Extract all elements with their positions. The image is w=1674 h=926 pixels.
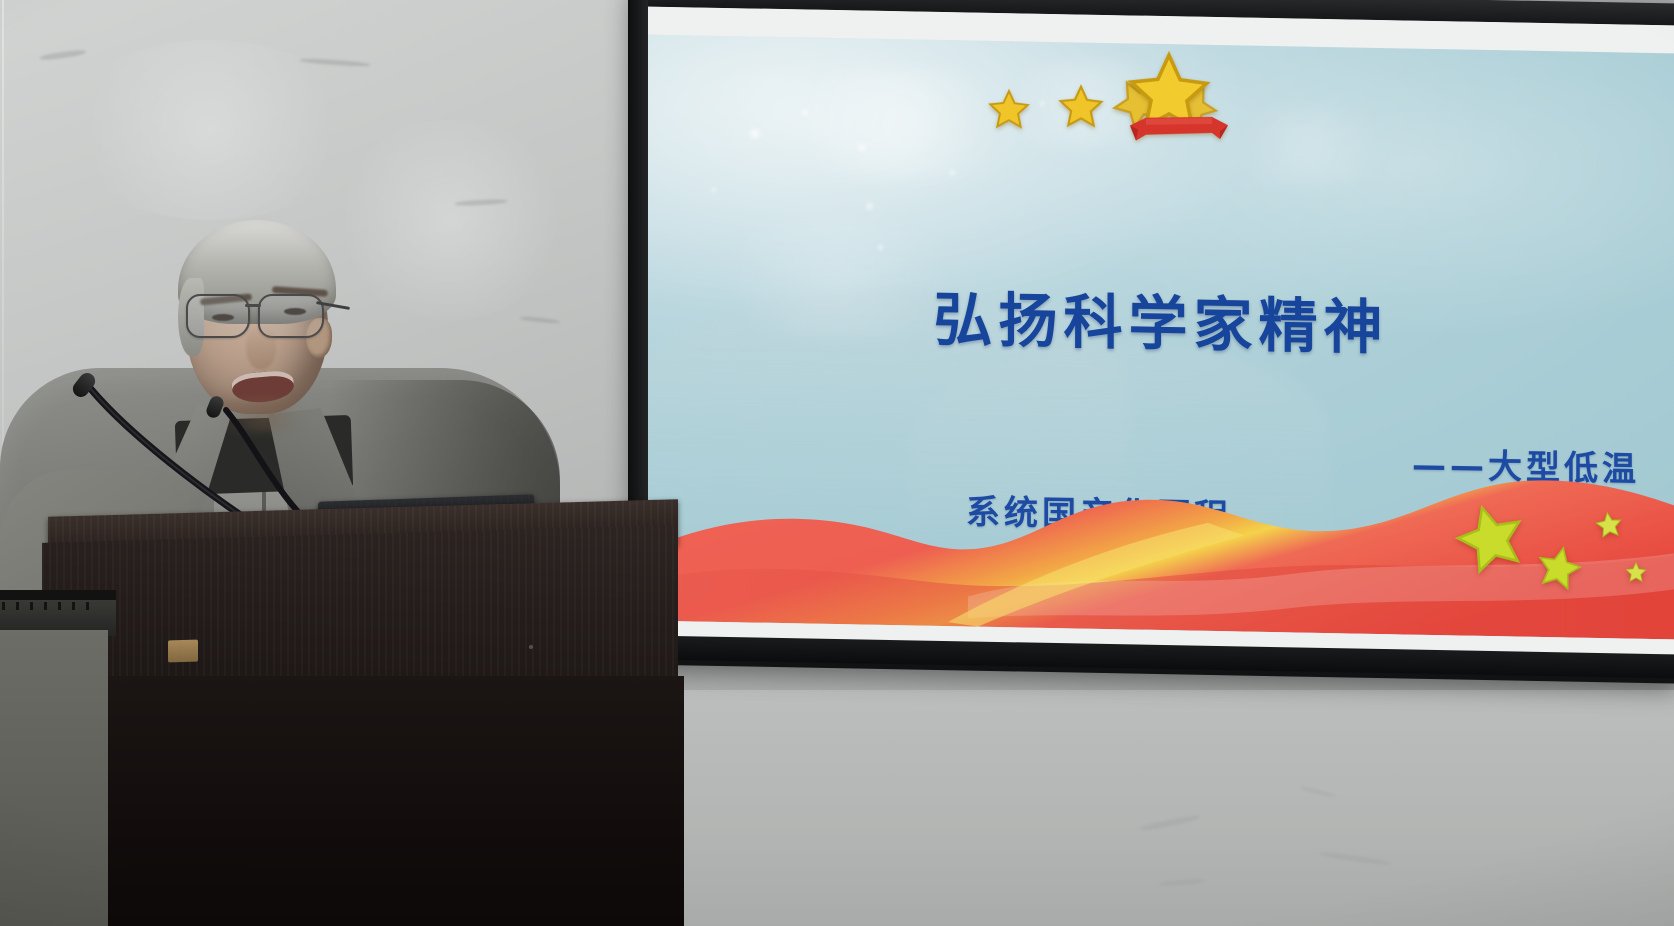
side-table-edge-detail	[2, 602, 98, 610]
slide-bottom-stars	[1438, 487, 1668, 611]
side-table-body	[0, 630, 108, 926]
star-icon	[1452, 499, 1530, 578]
slide-content: 弘扬科学家精神 ——大型低温 系统国产化历程	[648, 35, 1674, 640]
eyeglass-bridge	[245, 304, 261, 307]
slide-bokeh-dot	[876, 243, 885, 252]
wall-lower-section	[640, 690, 1674, 926]
screenshot-root: 弘扬科学家精神 ——大型低温 系统国产化历程	[0, 0, 1674, 926]
slide-bokeh-dot	[800, 107, 810, 117]
star-icon	[1594, 510, 1624, 541]
slide-bokeh-dot	[710, 186, 718, 194]
star-icon	[986, 87, 1032, 134]
slide-bokeh-dot	[856, 141, 868, 153]
slide-bokeh-dot	[748, 126, 762, 140]
slide-bokeh-dot	[864, 201, 875, 212]
slide-bokeh-dot	[948, 168, 957, 177]
presenter-nose	[246, 326, 276, 370]
podium-name-plate	[168, 640, 198, 663]
projection-screen-surface: 弘扬科学家精神 ——大型低温 系统国产化历程	[648, 7, 1674, 658]
star-icon	[1056, 82, 1106, 133]
eyeglass-lens	[186, 294, 250, 338]
side-table-lip	[0, 590, 116, 600]
star-icon	[1534, 543, 1584, 594]
podium-screw-dot	[529, 645, 533, 649]
star-icon	[1624, 560, 1648, 584]
slide-star-emblem	[978, 43, 1378, 180]
podium-base	[48, 676, 684, 926]
ribbon-banner-icon	[1124, 107, 1234, 159]
